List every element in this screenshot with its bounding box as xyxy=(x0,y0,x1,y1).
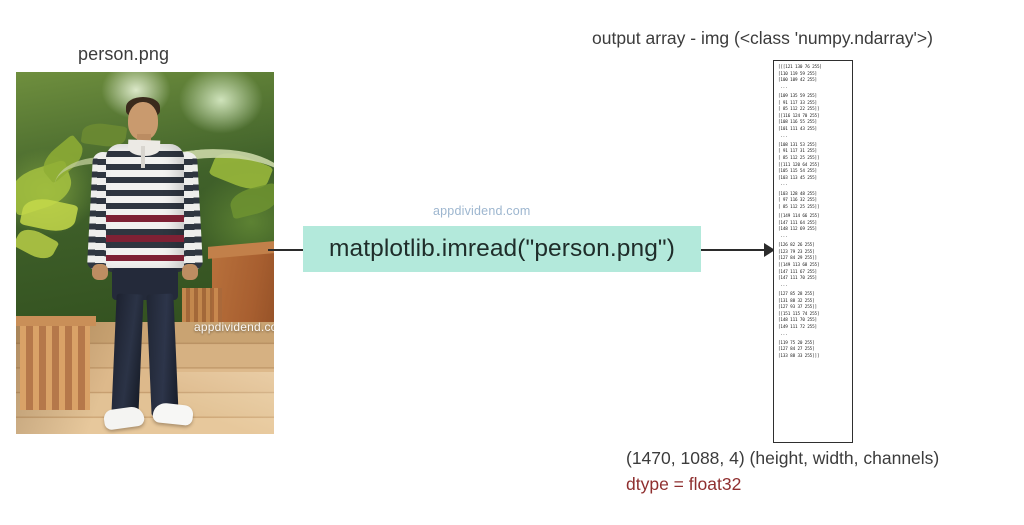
code-call-text: matplotlib.imread("person.png") xyxy=(329,235,675,263)
photo-shirt-placket xyxy=(141,146,145,168)
array-ellipsis: ... xyxy=(778,332,849,338)
array-row: [109 135 59 255] xyxy=(778,94,849,101)
array-ellipsis: ... xyxy=(778,134,849,140)
array-ellipsis: ... xyxy=(778,234,849,240)
array-row: [ 85 112 25 255]] xyxy=(778,156,849,163)
array-ellipsis: ... xyxy=(778,283,849,289)
array-row: [126 82 26 255] xyxy=(778,243,849,250)
array-row: [[149 113 68 255] xyxy=(778,263,849,270)
photo-watermark: appdividend.com xyxy=(194,320,274,334)
array-row: [127 84 27 255] xyxy=(778,347,849,354)
photo-shirt-maroon-stripe xyxy=(106,235,184,242)
array-row-group: [[[121 130 76 255] [110 119 59 255] [100… xyxy=(778,65,849,91)
array-row: [[[121 130 76 255] xyxy=(778,65,849,72)
arrow-code-to-array xyxy=(700,249,768,251)
photo-person-left-hand xyxy=(92,264,108,280)
photo-clay-balusters xyxy=(20,322,90,410)
array-row: [127 85 28 255] xyxy=(778,292,849,299)
array-row: [ 91 117 31 255] xyxy=(778,149,849,156)
photo-person-right-leg xyxy=(146,293,178,416)
array-row: [149 111 72 255] xyxy=(778,325,849,332)
array-row-group: [[149 114 66 255] [147 111 64 255] [148 … xyxy=(778,214,849,240)
photo-clay-baluster-cap xyxy=(16,316,96,326)
photo-person-right-shoe xyxy=(152,402,194,426)
array-row: [100 109 42 255] xyxy=(778,78,849,85)
array-ellipsis: ... xyxy=(778,182,849,188)
array-ellipsis: ... xyxy=(778,85,849,91)
array-row: [127 93 37 255]] xyxy=(778,305,849,312)
array-row: [108 116 55 255] xyxy=(778,120,849,127)
arrow-image-to-code xyxy=(268,249,304,251)
array-row: [ 97 116 32 255] xyxy=(778,198,849,205)
array-row: [105 115 54 255] xyxy=(778,169,849,176)
array-row: [ 85 112 22 255]] xyxy=(778,107,849,114)
source-image-label: person.png xyxy=(78,44,169,65)
array-row: [103 113 45 255] xyxy=(778,176,849,183)
array-row: [133 88 33 255]]] xyxy=(778,354,849,361)
array-row: [101 111 43 255] xyxy=(778,127,849,134)
array-row-group: [103 128 48 255] [ 97 116 32 255] [ 85 1… xyxy=(778,192,849,212)
array-row: [147 111 70 255] xyxy=(778,276,849,283)
array-row-group: [109 135 59 255] [ 91 117 33 255] [ 85 1… xyxy=(778,94,849,140)
source-image-photo: appdividend.com xyxy=(16,72,274,434)
array-row-group: [108 131 53 255] [ 91 117 31 255] [ 85 1… xyxy=(778,143,849,189)
photo-person-left-leg xyxy=(111,293,143,416)
code-call-box[interactable]: matplotlib.imread("person.png") xyxy=(303,226,701,272)
photo-person-right-hand xyxy=(182,264,198,280)
array-dtype-caption: dtype = float32 xyxy=(626,474,741,495)
array-row: [148 112 69 255] xyxy=(778,227,849,234)
array-row: [ 85 112 25 255]] xyxy=(778,205,849,212)
array-shape-caption: (1470, 1088, 4) (height, width, channels… xyxy=(626,448,939,469)
output-array-box: [[[121 130 76 255] [110 119 59 255] [100… xyxy=(773,60,853,443)
output-array-title: output array - img (<class 'numpy.ndarra… xyxy=(592,28,933,49)
photo-shirt-maroon-stripe xyxy=(106,255,184,261)
photo-shirt-maroon-stripe xyxy=(106,215,184,222)
array-row-group: [119 75 20 255] [127 84 27 255] [133 88 … xyxy=(778,341,849,361)
code-watermark: appdividend.com xyxy=(433,204,531,218)
array-row-group: [127 85 28 255] [131 88 32 255] [127 93 … xyxy=(778,292,849,338)
array-row-group: [126 82 26 255] [123 79 23 255] [127 84 … xyxy=(778,243,849,289)
photo-person-striped-shirt xyxy=(106,144,184,272)
array-row: [[149 114 66 255] xyxy=(778,214,849,221)
